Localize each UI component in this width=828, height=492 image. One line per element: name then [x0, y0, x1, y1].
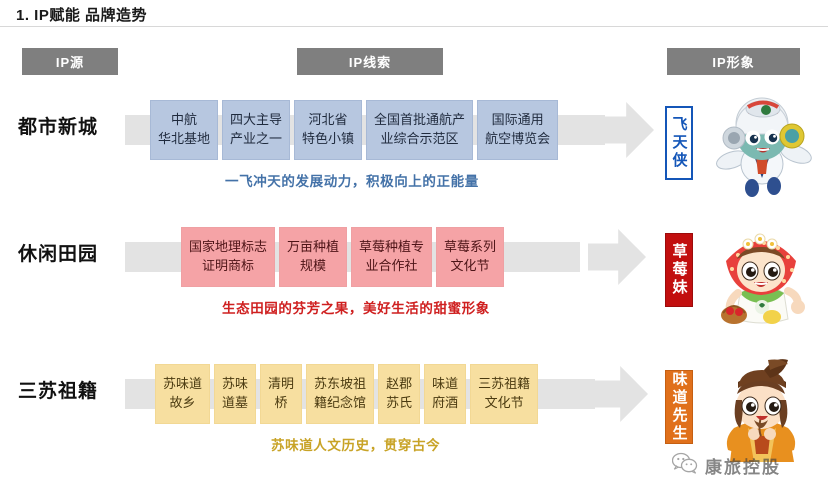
clue-box: 国际通用 航空博览会: [477, 100, 558, 160]
column-header-ip-source: IP源: [22, 48, 118, 75]
clue-line-1: 万亩种植: [287, 239, 339, 254]
clue-line-1: 苏味: [222, 376, 248, 391]
clue-line-1: 苏东坡祖: [314, 376, 366, 391]
clue-line-1: 苏味道: [163, 376, 202, 391]
clue-line-1: 赵郡: [386, 376, 412, 391]
clue-box: 中航 华北基地: [150, 100, 218, 160]
clue-box: 四大主导 产业之一: [222, 100, 290, 160]
clue-line-2: 证明商标: [202, 258, 254, 273]
clue-box: 苏味 道墓: [214, 364, 256, 424]
clue-box: 清明 桥: [260, 364, 302, 424]
clue-line-2: 道墓: [222, 395, 248, 410]
column-header-ip-image: IP形象: [667, 48, 800, 75]
clue-box: 三苏祖籍 文化节: [470, 364, 538, 424]
arrow-head-icon: [596, 102, 654, 158]
mr-flavor-mascot: [704, 358, 816, 462]
wechat-icon: [672, 452, 698, 479]
flying-hero-mascot: [704, 94, 816, 198]
clue-line-2: 桥: [275, 395, 288, 410]
clue-line-1: 草莓系列: [444, 239, 496, 254]
clue-line-1: 味道: [432, 376, 458, 391]
watermark: 康旅控股: [672, 452, 781, 479]
clue-box: 苏味道 故乡: [155, 364, 210, 424]
clue-line-1: 全国首批通航产: [374, 112, 465, 127]
clue-line-2: 苏氏: [386, 395, 412, 410]
ip-image-cell: 味道先生: [660, 358, 820, 462]
row-urban-new-city: 都市新城 中航 华北基地 四大主导 产业之一 河北省 特色小镇 全国首批通航产 …: [0, 88, 828, 200]
row-leisure-countryside: 休闲田园 国家地理标志 证明商标 万亩种植 规模 草莓种植专 业合作社 草莓系列…: [0, 215, 828, 327]
clue-line-2: 规模: [300, 258, 326, 273]
clue-line-2: 华北基地: [158, 131, 210, 146]
clue-line-1: 清明: [268, 376, 294, 391]
slide-canvas: 1. IP赋能 品牌造势 IP源 IP线索 IP形象 都市新城 中航 华北基地 …: [0, 0, 828, 492]
watermark-text: 康旅控股: [705, 453, 781, 478]
clue-box: 赵郡 苏氏: [378, 364, 420, 424]
clue-line-1: 中航: [171, 112, 197, 127]
clue-box: 草莓系列 文化节: [436, 227, 504, 287]
title-divider: [0, 26, 828, 27]
clue-line-2: 业合作社: [366, 258, 418, 273]
clue-box: 万亩种植 规模: [279, 227, 347, 287]
clue-box-list: 苏味道 故乡 苏味 道墓 清明 桥 苏东坡祖 籍纪念馆 赵郡 苏氏: [155, 364, 538, 424]
arrow-head-icon: [590, 366, 648, 422]
clue-line-1: 国家地理标志: [189, 239, 267, 254]
clue-line-1: 四大主导: [230, 112, 282, 127]
clue-line-1: 草莓种植专: [359, 239, 424, 254]
row-caption: 生态田园的芬芳之果，美好生活的甜蜜形象: [222, 297, 490, 317]
clue-line-1: 河北省: [309, 112, 348, 127]
clue-line-2: 府酒: [432, 395, 458, 410]
clue-line-2: 特色小镇: [302, 131, 354, 146]
clue-line-2: 文化节: [485, 395, 524, 410]
page-title: 1. IP赋能 品牌造势: [16, 4, 147, 25]
clue-line-2: 故乡: [170, 395, 196, 410]
ip-name-tag: 草莓妹: [665, 233, 693, 307]
column-header-ip-clue: IP线索: [297, 48, 443, 75]
clue-line-2: 产业之一: [230, 131, 282, 146]
clue-box: 苏东坡祖 籍纪念馆: [306, 364, 374, 424]
ip-name-tag: 味道先生: [665, 370, 693, 444]
ip-image-cell: 飞天侠: [660, 94, 820, 198]
clue-line-2: 文化节: [451, 258, 490, 273]
clue-line-2: 航空博览会: [485, 131, 550, 146]
clue-box: 河北省 特色小镇: [294, 100, 362, 160]
clue-box: 味道 府酒: [424, 364, 466, 424]
row-label: 三苏祖籍: [18, 376, 138, 403]
clue-line-1: 国际通用: [492, 112, 544, 127]
clue-box: 国家地理标志 证明商标: [181, 227, 275, 287]
clue-line-1: 三苏祖籍: [478, 376, 530, 391]
row-three-su-ancestry: 三苏祖籍 苏味道 故乡 苏味 道墓 清明 桥 苏东坡祖 籍纪念馆: [0, 352, 828, 464]
clue-box-list: 中航 华北基地 四大主导 产业之一 河北省 特色小镇 全国首批通航产 业综合示范…: [150, 100, 558, 160]
row-caption: 一飞冲天的发展动力，积极向上的正能量: [225, 170, 479, 190]
ip-image-cell: 草莓妹: [660, 221, 820, 325]
arrow-head-icon: [588, 229, 646, 285]
row-label: 都市新城: [18, 112, 138, 139]
clue-box: 草莓种植专 业合作社: [351, 227, 432, 287]
row-caption: 苏味道人文历史，贯穿古今: [271, 434, 440, 454]
clue-line-2: 业综合示范区: [381, 131, 459, 146]
clue-line-2: 籍纪念馆: [314, 395, 366, 410]
row-label: 休闲田园: [18, 239, 138, 266]
clue-box: 全国首批通航产 业综合示范区: [366, 100, 473, 160]
strawberry-girl-mascot: [704, 221, 816, 325]
clue-box-list: 国家地理标志 证明商标 万亩种植 规模 草莓种植专 业合作社 草莓系列 文化节: [181, 227, 504, 287]
ip-name-tag: 飞天侠: [665, 106, 693, 180]
